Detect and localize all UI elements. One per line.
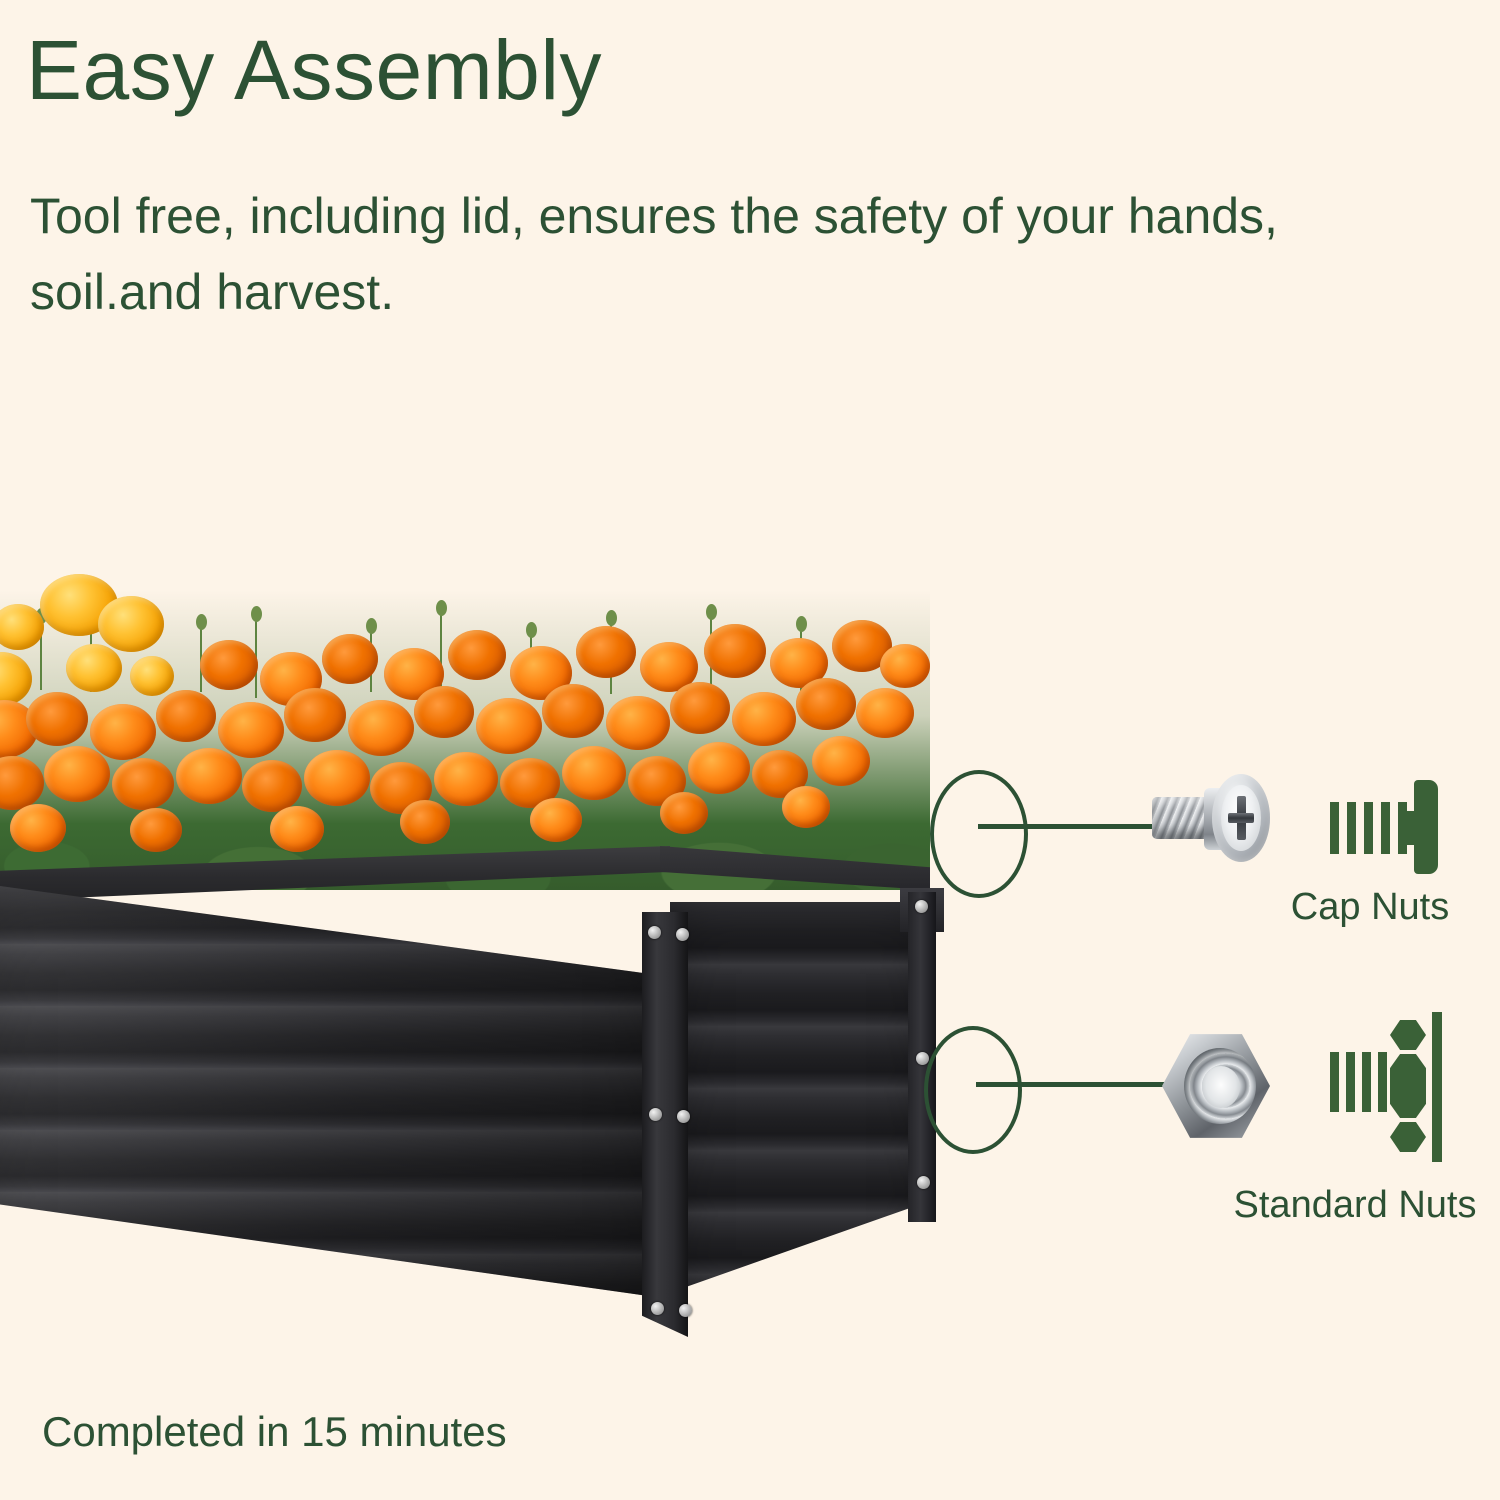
hex-nut-bore-center	[1202, 1066, 1240, 1108]
screw-right-top	[915, 900, 928, 913]
planter-side-panel	[670, 902, 932, 1322]
callout-leader-line-standard-nuts	[976, 1082, 1166, 1087]
page-subtitle: Tool free, including lid, ensures the sa…	[30, 178, 1360, 330]
phillips-cross-icon	[1228, 796, 1254, 840]
screw-front-mid-right	[677, 1110, 690, 1123]
hex-nut-bottom-segment	[1390, 1122, 1426, 1152]
cap-nut-icon	[1330, 778, 1426, 874]
hex-nut-middle-segment	[1390, 1054, 1426, 1118]
screw-front-top-right	[676, 928, 689, 941]
marigold-flower-bed	[0, 560, 930, 890]
hex-nut-top-segment	[1390, 1020, 1426, 1050]
infographic-canvas: Easy Assembly Tool free, including lid, …	[0, 0, 1500, 1500]
raised-garden-bed-illustration	[0, 560, 980, 1320]
screw-front-mid-left	[649, 1108, 662, 1121]
planter-front-panel	[0, 882, 670, 1312]
screw-front-bottom-right	[679, 1304, 692, 1317]
marigold-blooms	[0, 560, 930, 890]
standard-nuts-label: Standard Nuts	[1230, 1184, 1480, 1227]
page-title: Easy Assembly	[26, 28, 602, 112]
callout-highlight-standard-nuts	[924, 1026, 1022, 1154]
screw-right-lower	[917, 1176, 930, 1189]
callout-highlight-cap-nuts	[930, 770, 1028, 898]
cap-nut-bolt-photo	[1152, 772, 1272, 864]
standard-nut-icon	[1330, 1012, 1440, 1164]
standard-nut-photo	[1162, 1032, 1270, 1140]
completion-time-note: Completed in 15 minutes	[42, 1408, 507, 1456]
callout-leader-line-cap-nuts	[978, 824, 1168, 829]
cap-nuts-label: Cap Nuts	[1260, 886, 1480, 929]
screw-right-mid	[916, 1052, 929, 1065]
screw-front-bottom-left	[651, 1302, 664, 1315]
screw-front-top-left	[648, 926, 661, 939]
planter-corner-post-front	[642, 912, 688, 1337]
